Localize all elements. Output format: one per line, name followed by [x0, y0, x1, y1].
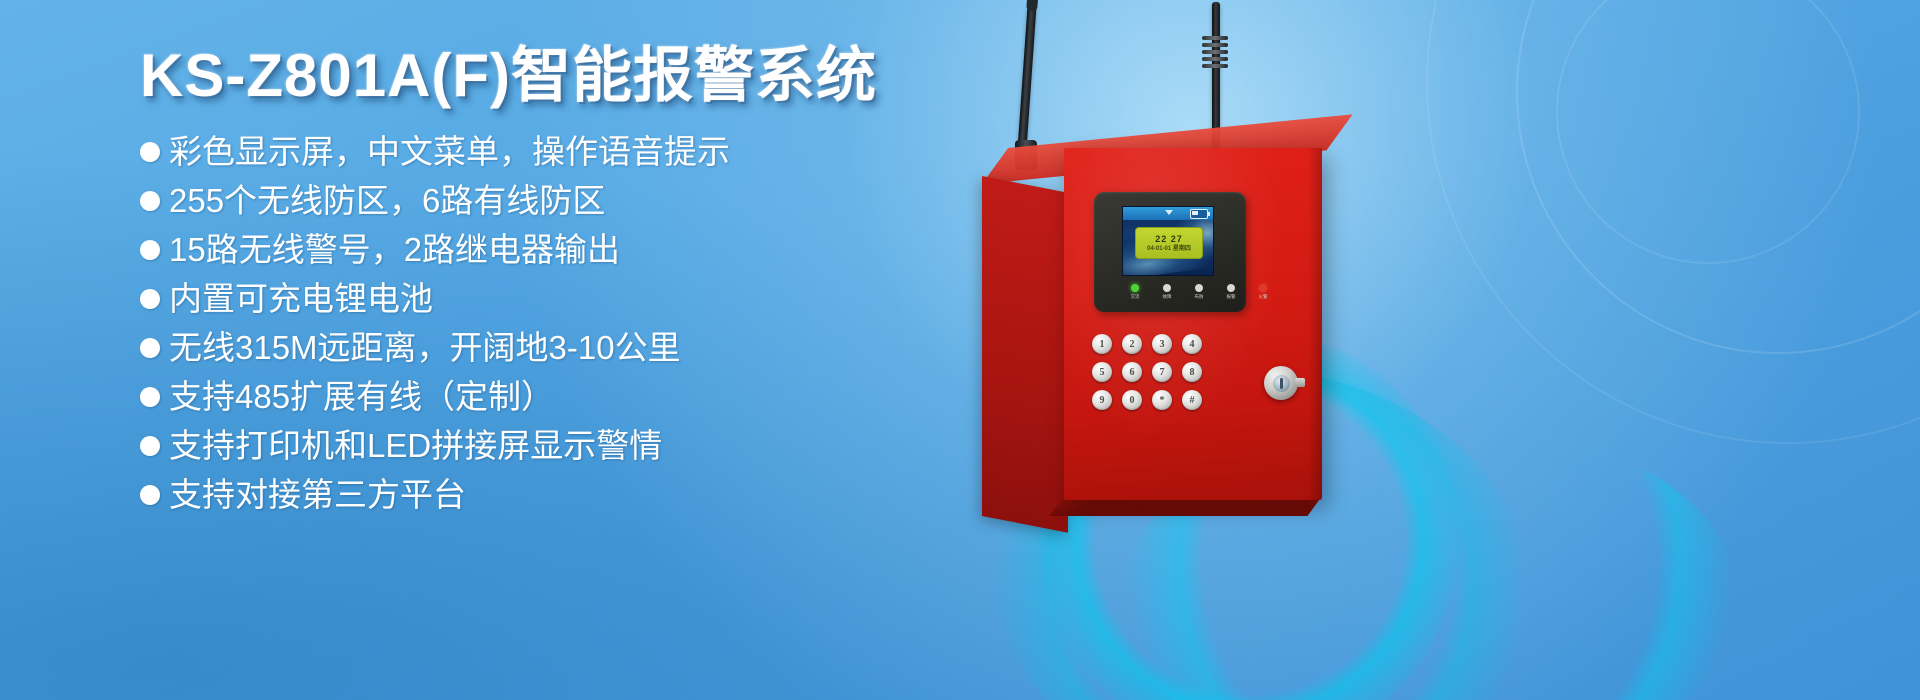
feature-item: 内置可充电锂电池	[140, 282, 970, 315]
led-dot-fault	[1163, 284, 1171, 292]
feature-label: 15路无线警号，2路继电器输出	[169, 233, 620, 266]
feature-item: 彩色显示屏，中文菜单，操作语音提示	[140, 135, 970, 168]
feature-list: 彩色显示屏，中文菜单，操作语音提示 255个无线防区，6路有线防区 15路无线警…	[140, 135, 970, 511]
enclosure-front-panel: 22 27 04-01-01 星期四 交流 故障 布防	[1064, 148, 1322, 500]
status-bar	[1123, 207, 1213, 220]
feature-label: 支持打印机和LED拼接屏显示警情	[169, 429, 662, 462]
feature-item: 255个无线防区，6路有线防区	[140, 184, 970, 217]
enclosure-side	[982, 176, 1068, 533]
led-label: 交流	[1124, 294, 1146, 300]
keypad-row: 1 2 3 4	[1092, 334, 1222, 354]
feature-item: 无线315M远距离，开阔地3-10公里	[140, 331, 970, 364]
lock-tab	[1295, 378, 1305, 387]
antenna-coil-icon	[1202, 36, 1228, 76]
key-1[interactable]: 1	[1092, 334, 1112, 354]
feature-item: 15路无线警号，2路继电器输出	[140, 233, 970, 266]
feature-item: 支持485扩展有线（定制）	[140, 380, 970, 413]
lcd-time: 22 27	[1155, 235, 1183, 244]
feature-label: 无线315M远距离，开阔地3-10公里	[169, 331, 681, 364]
feature-label: 彩色显示屏，中文菜单，操作语音提示	[169, 135, 730, 168]
led-dot-ac	[1131, 284, 1139, 292]
led-indicator: 故障	[1156, 284, 1178, 300]
bullet-icon	[140, 485, 160, 505]
product-title: KS-Z801A(F)智能报警系统	[140, 44, 970, 107]
key-3[interactable]: 3	[1152, 334, 1172, 354]
feature-label: 255个无线防区，6路有线防区	[169, 184, 605, 217]
alarm-panel-device: 22 27 04-01-01 星期四 交流 故障 布防	[960, 0, 1920, 700]
bullet-icon	[140, 436, 160, 456]
key-2[interactable]: 2	[1122, 334, 1142, 354]
led-label: 故障	[1156, 294, 1178, 300]
lcd-screen: 22 27 04-01-01 星期四	[1122, 206, 1214, 276]
key-6[interactable]: 6	[1122, 362, 1142, 382]
product-banner: KS-Z801A(F)智能报警系统 彩色显示屏，中文菜单，操作语音提示 255个…	[0, 0, 1920, 700]
key-0[interactable]: 0	[1122, 390, 1142, 410]
led-label: 火警	[1252, 294, 1274, 300]
key-4[interactable]: 4	[1182, 334, 1202, 354]
signal-icon	[1165, 209, 1174, 218]
lcd-date: 04-01-01 星期四	[1147, 246, 1191, 252]
bullet-icon	[140, 387, 160, 407]
bullet-icon	[140, 240, 160, 260]
key-9[interactable]: 9	[1092, 390, 1112, 410]
led-indicator-row: 交流 故障 布防 报警	[1124, 284, 1274, 300]
led-dot-alarm	[1227, 284, 1235, 292]
display-module: 22 27 04-01-01 星期四 交流 故障 布防	[1094, 192, 1246, 312]
led-label: 布防	[1188, 294, 1210, 300]
keypad-row: 5 6 7 8	[1092, 362, 1222, 382]
key-star[interactable]: *	[1152, 390, 1172, 410]
clock-card: 22 27 04-01-01 星期四	[1135, 227, 1203, 259]
bullet-icon	[140, 142, 160, 162]
key-5[interactable]: 5	[1092, 362, 1112, 382]
feature-label: 支持对接第三方平台	[169, 478, 466, 511]
led-indicator: 报警	[1220, 284, 1242, 300]
copy-block: KS-Z801A(F)智能报警系统 彩色显示屏，中文菜单，操作语音提示 255个…	[140, 44, 970, 527]
led-indicator: 交流	[1124, 284, 1146, 300]
feature-item: 支持对接第三方平台	[140, 478, 970, 511]
led-indicator: 布防	[1188, 284, 1210, 300]
key-lock-icon[interactable]	[1264, 366, 1298, 400]
keypad-row: 9 0 * #	[1092, 390, 1222, 410]
bullet-icon	[140, 338, 160, 358]
bullet-icon	[140, 191, 160, 211]
battery-icon	[1190, 209, 1208, 219]
key-hash[interactable]: #	[1182, 390, 1202, 410]
keypad[interactable]: 1 2 3 4 5 6 7 8 9 0 * #	[1092, 334, 1222, 418]
key-7[interactable]: 7	[1152, 362, 1172, 382]
feature-item: 支持打印机和LED拼接屏显示警情	[140, 429, 970, 462]
feature-label: 支持485扩展有线（定制）	[169, 380, 554, 413]
key-8[interactable]: 8	[1182, 362, 1202, 382]
led-dot-fire	[1259, 284, 1267, 292]
feature-label: 内置可充电锂电池	[169, 282, 433, 315]
led-label: 报警	[1220, 294, 1242, 300]
led-dot-armed	[1195, 284, 1203, 292]
led-indicator: 火警	[1252, 284, 1274, 300]
lock-core	[1273, 375, 1290, 392]
bullet-icon	[140, 289, 160, 309]
